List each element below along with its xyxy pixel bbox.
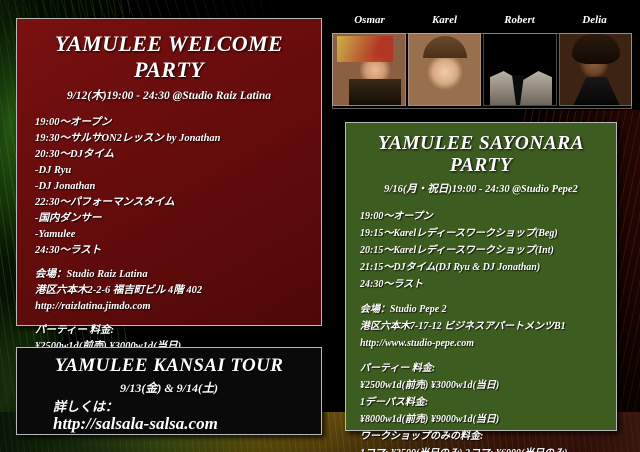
party-price-line: ¥2500w1d(前売) ¥3000w1d(当日) (360, 377, 616, 394)
welcome-party-title: YAMULEE WELCOME PARTY (17, 31, 321, 83)
kansai-tour-cta: 詳しくは： http://salsala-salsa.com (53, 399, 321, 432)
schedule-line: -DJ Jonathan (35, 179, 321, 195)
spacer (35, 259, 321, 267)
workshop-price-line: 1コマ: ¥3500(当日のみ) 2コマ: ¥6000(当日のみ) (360, 445, 616, 452)
schedule-line: 22:30〜パフォーマンスタイム (35, 195, 321, 211)
welcome-party-details: 19:00〜オープン 19:30〜サルサON2レッスン by Jonathan … (35, 115, 321, 371)
welcome-party-panel: YAMULEE WELCOME PARTY 9/12(木)19:00 - 24:… (16, 18, 322, 326)
venue-address: 港区六本木2-2-6 福吉町ビル 4階 402 (35, 283, 321, 299)
workshop-price-label: ワークショップのみの料金: (360, 428, 616, 445)
artist-name-robert: Robert (482, 14, 557, 33)
kansai-cta-label: 詳しくは： (53, 399, 118, 414)
schedule-line: 20:30〜DJタイム (35, 147, 321, 163)
photo-hair-shape (572, 34, 620, 64)
venue-label: 会場：Studio Raiz Latina (35, 267, 321, 283)
schedule-line: 20:15〜Karelレディースワークショップ(Int) (360, 242, 616, 259)
artist-photo-row (332, 33, 632, 106)
artist-name-karel: Karel (407, 14, 482, 33)
photo-suit-shape (349, 79, 401, 105)
photo-backdrop-banner (337, 36, 393, 62)
venue-url[interactable]: http://www.studio-pepe.com (360, 335, 616, 352)
flyer-canvas: YAMULEE WELCOME PARTY 9/12(木)19:00 - 24:… (0, 0, 640, 452)
sayonara-party-subtitle: 9/16(月・祝日)19:00 - 24:30 @Studio Pepe2 (346, 181, 616, 196)
venue-address: 港区六本木7-17-12 ビジネスアパートメンツB1 (360, 318, 616, 335)
schedule-line: -Yamulee (35, 227, 321, 243)
schedule-line: 24:30〜ラスト (35, 243, 321, 259)
artist-name-osmar: Osmar (332, 14, 407, 33)
schedule-line: 19:15〜Karelレディースワークショップ(Beg) (360, 225, 616, 242)
schedule-line: 21:15〜DJタイム(DJ Ryu & DJ Jonathan) (360, 259, 616, 276)
artist-photo-osmar (332, 33, 406, 106)
sayonara-party-details: 19:00〜オープン 19:15〜Karelレディースワークショップ(Beg) … (360, 208, 616, 452)
kansai-tour-subtitle: 9/13(金) & 9/14(土) (17, 379, 321, 396)
sayonara-party-title: YAMULEE SAYONARA PARTY (346, 133, 616, 177)
spacer (35, 315, 321, 323)
daypass-price-label: 1デーパス料金: (360, 394, 616, 411)
venue-url[interactable]: http://raizlatina.jimdo.com (35, 299, 321, 315)
artist-name-delia: Delia (557, 14, 632, 33)
artist-photo-robert (483, 33, 557, 106)
venue-label: 会場：Studio Pepe 2 (360, 301, 616, 318)
spacer (360, 293, 616, 301)
photo-hair-shape (423, 36, 467, 58)
welcome-party-subtitle: 9/12(木)19:00 - 24:30 @Studio Raiz Latina (17, 87, 321, 103)
schedule-line: 19:30〜サルサON2レッスン by Jonathan (35, 131, 321, 147)
artist-name-row: Osmar Karel Robert Delia (332, 14, 632, 33)
schedule-line: -DJ Ryu (35, 163, 321, 179)
sayonara-party-panel: YAMULEE SAYONARA PARTY 9/16(月・祝日)19:00 -… (345, 122, 617, 431)
kansai-tour-panel: YAMULEE KANSAI TOUR 9/13(金) & 9/14(土) 詳し… (16, 347, 322, 435)
artist-photo-strip: Osmar Karel Robert Delia (332, 14, 632, 106)
price-label: パーティー 料金: (35, 323, 321, 339)
kansai-tour-title: YAMULEE KANSAI TOUR (17, 355, 321, 377)
schedule-line: 19:00〜オープン (360, 208, 616, 225)
spacer (360, 352, 616, 360)
photo-dress-shape (574, 77, 620, 105)
party-price-label: パーティー 料金: (360, 360, 616, 377)
kansai-tour-url[interactable]: http://salsala-salsa.com (53, 416, 321, 432)
schedule-line: 19:00〜オープン (35, 115, 321, 131)
artist-photo-delia (559, 33, 633, 106)
schedule-line: 24:30〜ラスト (360, 276, 616, 293)
artist-photo-karel (408, 33, 482, 106)
schedule-line: -国内ダンサー (35, 211, 321, 227)
daypass-price-line: ¥8000w1d(前売) ¥9000w1d(当日) (360, 411, 616, 428)
